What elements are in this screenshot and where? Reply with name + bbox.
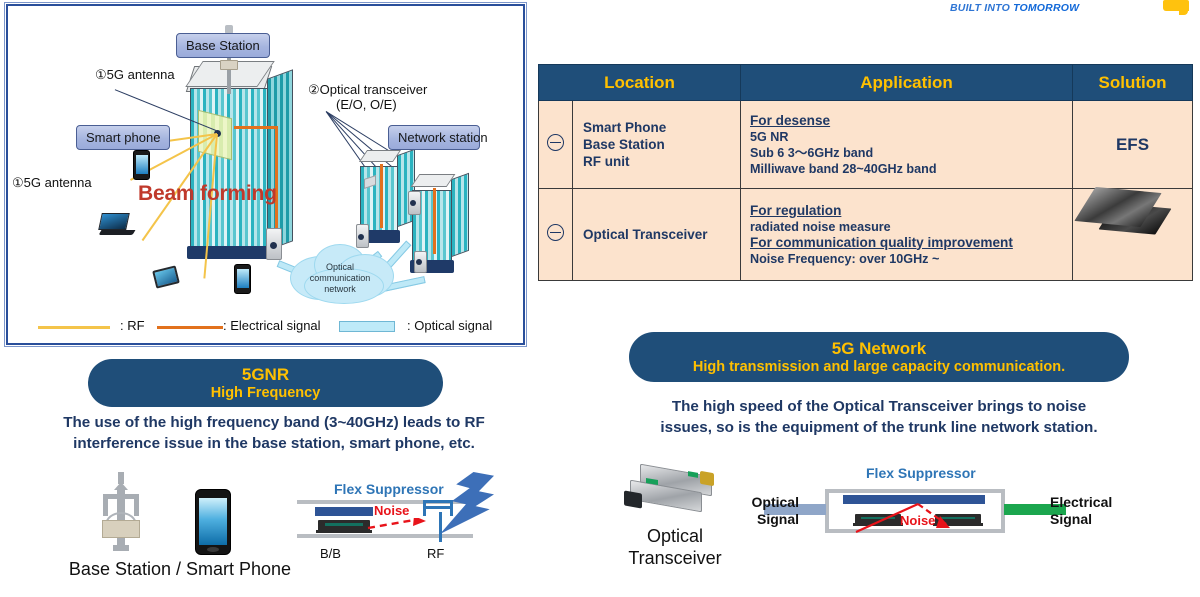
label-base-station: Base Station xyxy=(176,33,270,58)
smartphone-screen xyxy=(136,155,148,174)
legend-electrical-label: : Electrical signal xyxy=(223,318,321,333)
row1-location-cell: Smart Phone Base Station RF unit xyxy=(573,101,741,189)
ns1-electrical-line xyxy=(380,164,383,228)
row1-app-line1: For desense xyxy=(750,113,830,128)
5gnr-pill-badge: 5GNR High Frequency xyxy=(88,359,443,407)
laptop-screen xyxy=(98,213,130,230)
cloud-label-line3: network xyxy=(291,284,389,295)
smart-phone-icon-large xyxy=(195,489,231,555)
mast-equipment-box xyxy=(220,60,238,70)
label-5g-antenna-top: ①5G antenna xyxy=(95,67,175,82)
5gnr-pill-title: 5GNR xyxy=(242,365,289,384)
row2-app-line4: Noise Frequency: over 10GHz ~ xyxy=(750,251,1072,267)
left-flex-suppressor-title: Flex Suppressor xyxy=(334,481,444,497)
right-caption-line1: Optical xyxy=(600,525,750,547)
brand-logo-mark-icon xyxy=(1163,0,1189,11)
electrical-signal-line-horizontal xyxy=(234,126,278,129)
client-tablet-icon xyxy=(152,265,180,288)
electrical-signal-line2: Signal xyxy=(1050,511,1112,528)
optical-signal-line1: Optical xyxy=(733,494,799,511)
row1-app-line3: Sub 6 3～6GHz band xyxy=(750,145,1072,161)
efs-sheet-product-image xyxy=(1083,186,1167,238)
bs-equipment-box xyxy=(102,520,140,538)
building-base xyxy=(187,246,271,259)
ot-connector-gold xyxy=(700,471,714,486)
optical-signal-label: Optical Signal xyxy=(733,494,799,528)
left-caption: Base Station / Smart Phone xyxy=(40,558,320,580)
row2-app-line1: For regulation xyxy=(750,203,841,218)
client-smartphone-2-icon xyxy=(234,264,251,294)
minus-circle-icon xyxy=(547,224,564,241)
table-header-row: Location Application Solution xyxy=(539,65,1193,101)
5gnr-blurb: The use of the high frequency band (3~40… xyxy=(14,412,534,454)
cloud-label-line1: Optical xyxy=(291,262,389,273)
optical-signal-line2: Signal xyxy=(733,511,799,528)
smart-phone-home-button xyxy=(207,547,219,552)
brand-tagline-part2: TOMORROW xyxy=(1013,2,1079,14)
bs-crossbar xyxy=(103,494,139,499)
right-caption: Optical Transceiver xyxy=(600,525,750,569)
row1-app-line4: Milliwave band 28~40GHz band xyxy=(750,161,1072,177)
application-table: Location Application Solution Smart Phon… xyxy=(538,64,1193,281)
row2-mark-cell xyxy=(539,189,573,281)
ns2-side xyxy=(451,173,469,258)
ns1-port xyxy=(358,234,364,240)
row1-solution-label: EFS xyxy=(1116,135,1149,154)
label-network-station: Network station xyxy=(388,125,480,150)
row1-app-line2: 5G NR xyxy=(750,129,1072,145)
left-bb-label: B/B xyxy=(320,546,341,561)
left-bb-chip-legs xyxy=(316,530,372,533)
left-flex-suppressor-sheet xyxy=(315,507,373,516)
row2-app-line3: For communication quality improvement xyxy=(750,235,1013,250)
left-noise-label: Noise xyxy=(374,503,409,518)
row2-app-line2: radiated noise measure xyxy=(750,219,1072,235)
5gnr-pill-subtitle: High Frequency xyxy=(211,384,321,402)
brand-tagline: BUILT INTO TOMORROW xyxy=(950,2,1079,14)
row2-location-cell: Optical Transceiver xyxy=(573,189,741,281)
row1-location-line2: Base Station xyxy=(583,136,740,153)
smart-phone-screen-large xyxy=(199,498,227,545)
5g-network-pill-badge: 5G Network High transmission and large c… xyxy=(629,332,1129,382)
5gnr-blurb-line1: The use of the high frequency band (3~40… xyxy=(14,412,534,433)
client-laptop-icon xyxy=(100,213,134,235)
transceiver-unit-port xyxy=(270,242,277,249)
table-row: Smart Phone Base Station RF unit For des… xyxy=(539,101,1193,189)
minus-circle-icon xyxy=(547,134,564,151)
base-station-antenna-icon xyxy=(95,472,147,552)
building-side-face xyxy=(267,69,293,250)
row1-mark-cell xyxy=(539,101,573,189)
label-optical-transceiver: ②Optical transceiver xyxy=(308,82,427,97)
legend-optical-label: : Optical signal xyxy=(407,318,492,333)
5g-network-blurb: The high speed of the Optical Transceive… xyxy=(605,396,1153,438)
row1-application-cell: For desense 5G NR Sub 6 3～6GHz band Mill… xyxy=(741,101,1073,189)
electrical-signal-line-vertical xyxy=(275,126,278,236)
legend-rf-label: : RF xyxy=(120,318,145,333)
ot-connector-dark xyxy=(624,490,642,508)
laptop-base xyxy=(99,230,136,235)
brand-tagline-part1: BUILT INTO xyxy=(950,2,1013,14)
slide-root: BUILT INTO TOMORROW xyxy=(0,0,1200,597)
right-noise-arrows-icon xyxy=(850,494,980,536)
bs-foot xyxy=(113,545,129,551)
row1-location-line3: RF unit xyxy=(583,153,740,170)
legend-optical-swatch xyxy=(339,321,395,332)
cloud-label-line2: communication xyxy=(291,273,389,284)
diagram-legend: : RF : Electrical signal : Optical signa… xyxy=(32,316,512,340)
right-caption-line2: Transceiver xyxy=(600,547,750,569)
5g-network-blurb-line2: issues, so is the equipment of the trunk… xyxy=(605,417,1153,438)
electrical-signal-label: Electrical Signal xyxy=(1050,494,1112,528)
electrical-signal-line1: Electrical xyxy=(1050,494,1112,511)
right-flex-suppressor-title: Flex Suppressor xyxy=(866,465,976,481)
row2-location-line1: Optical Transceiver xyxy=(583,226,740,243)
5gnr-blurb-line2: interference issue in the base station, … xyxy=(14,433,534,454)
optical-transceiver-image xyxy=(622,470,718,520)
label-beam-forming: Beam forming xyxy=(138,182,277,206)
left-rf-label: RF xyxy=(427,546,444,561)
label-smart-phone: Smart phone xyxy=(76,125,170,150)
5g-network-pill-subtitle: High transmission and large capacity com… xyxy=(693,358,1065,376)
5g-network-pill-title: 5G Network xyxy=(832,339,926,358)
table-header-solution: Solution xyxy=(1073,65,1193,101)
optical-cloud-label: Optical communication network xyxy=(291,262,389,295)
label-5g-antenna-left: ①5G antenna xyxy=(12,175,92,190)
legend-electrical-swatch xyxy=(157,326,223,329)
label-network-station-text: Network station xyxy=(398,130,488,145)
5g-network-blurb-line1: The high speed of the Optical Transceive… xyxy=(605,396,1153,417)
label-optical-transceiver-sub: (E/O, O/E) xyxy=(336,97,397,112)
network-diagram-panel: Optical communication network Base Stati… xyxy=(6,4,525,345)
ns2-lower-port xyxy=(416,259,422,265)
table-header-location: Location xyxy=(539,65,741,101)
table-header-application: Application xyxy=(741,65,1073,101)
legend-rf-swatch xyxy=(38,326,110,329)
ns2-port xyxy=(410,200,416,206)
rf-antenna-stem xyxy=(439,512,442,542)
row2-application-cell: For regulation radiated noise measure Fo… xyxy=(741,189,1073,281)
client-smartphone-icon xyxy=(133,150,150,180)
ns2-electrical-line xyxy=(433,188,436,254)
smartphone-2-screen xyxy=(237,269,249,288)
row1-solution-cell: EFS xyxy=(1073,101,1193,189)
left-noise-arrow-icon xyxy=(366,518,428,532)
row1-location-line1: Smart Phone xyxy=(583,119,740,136)
